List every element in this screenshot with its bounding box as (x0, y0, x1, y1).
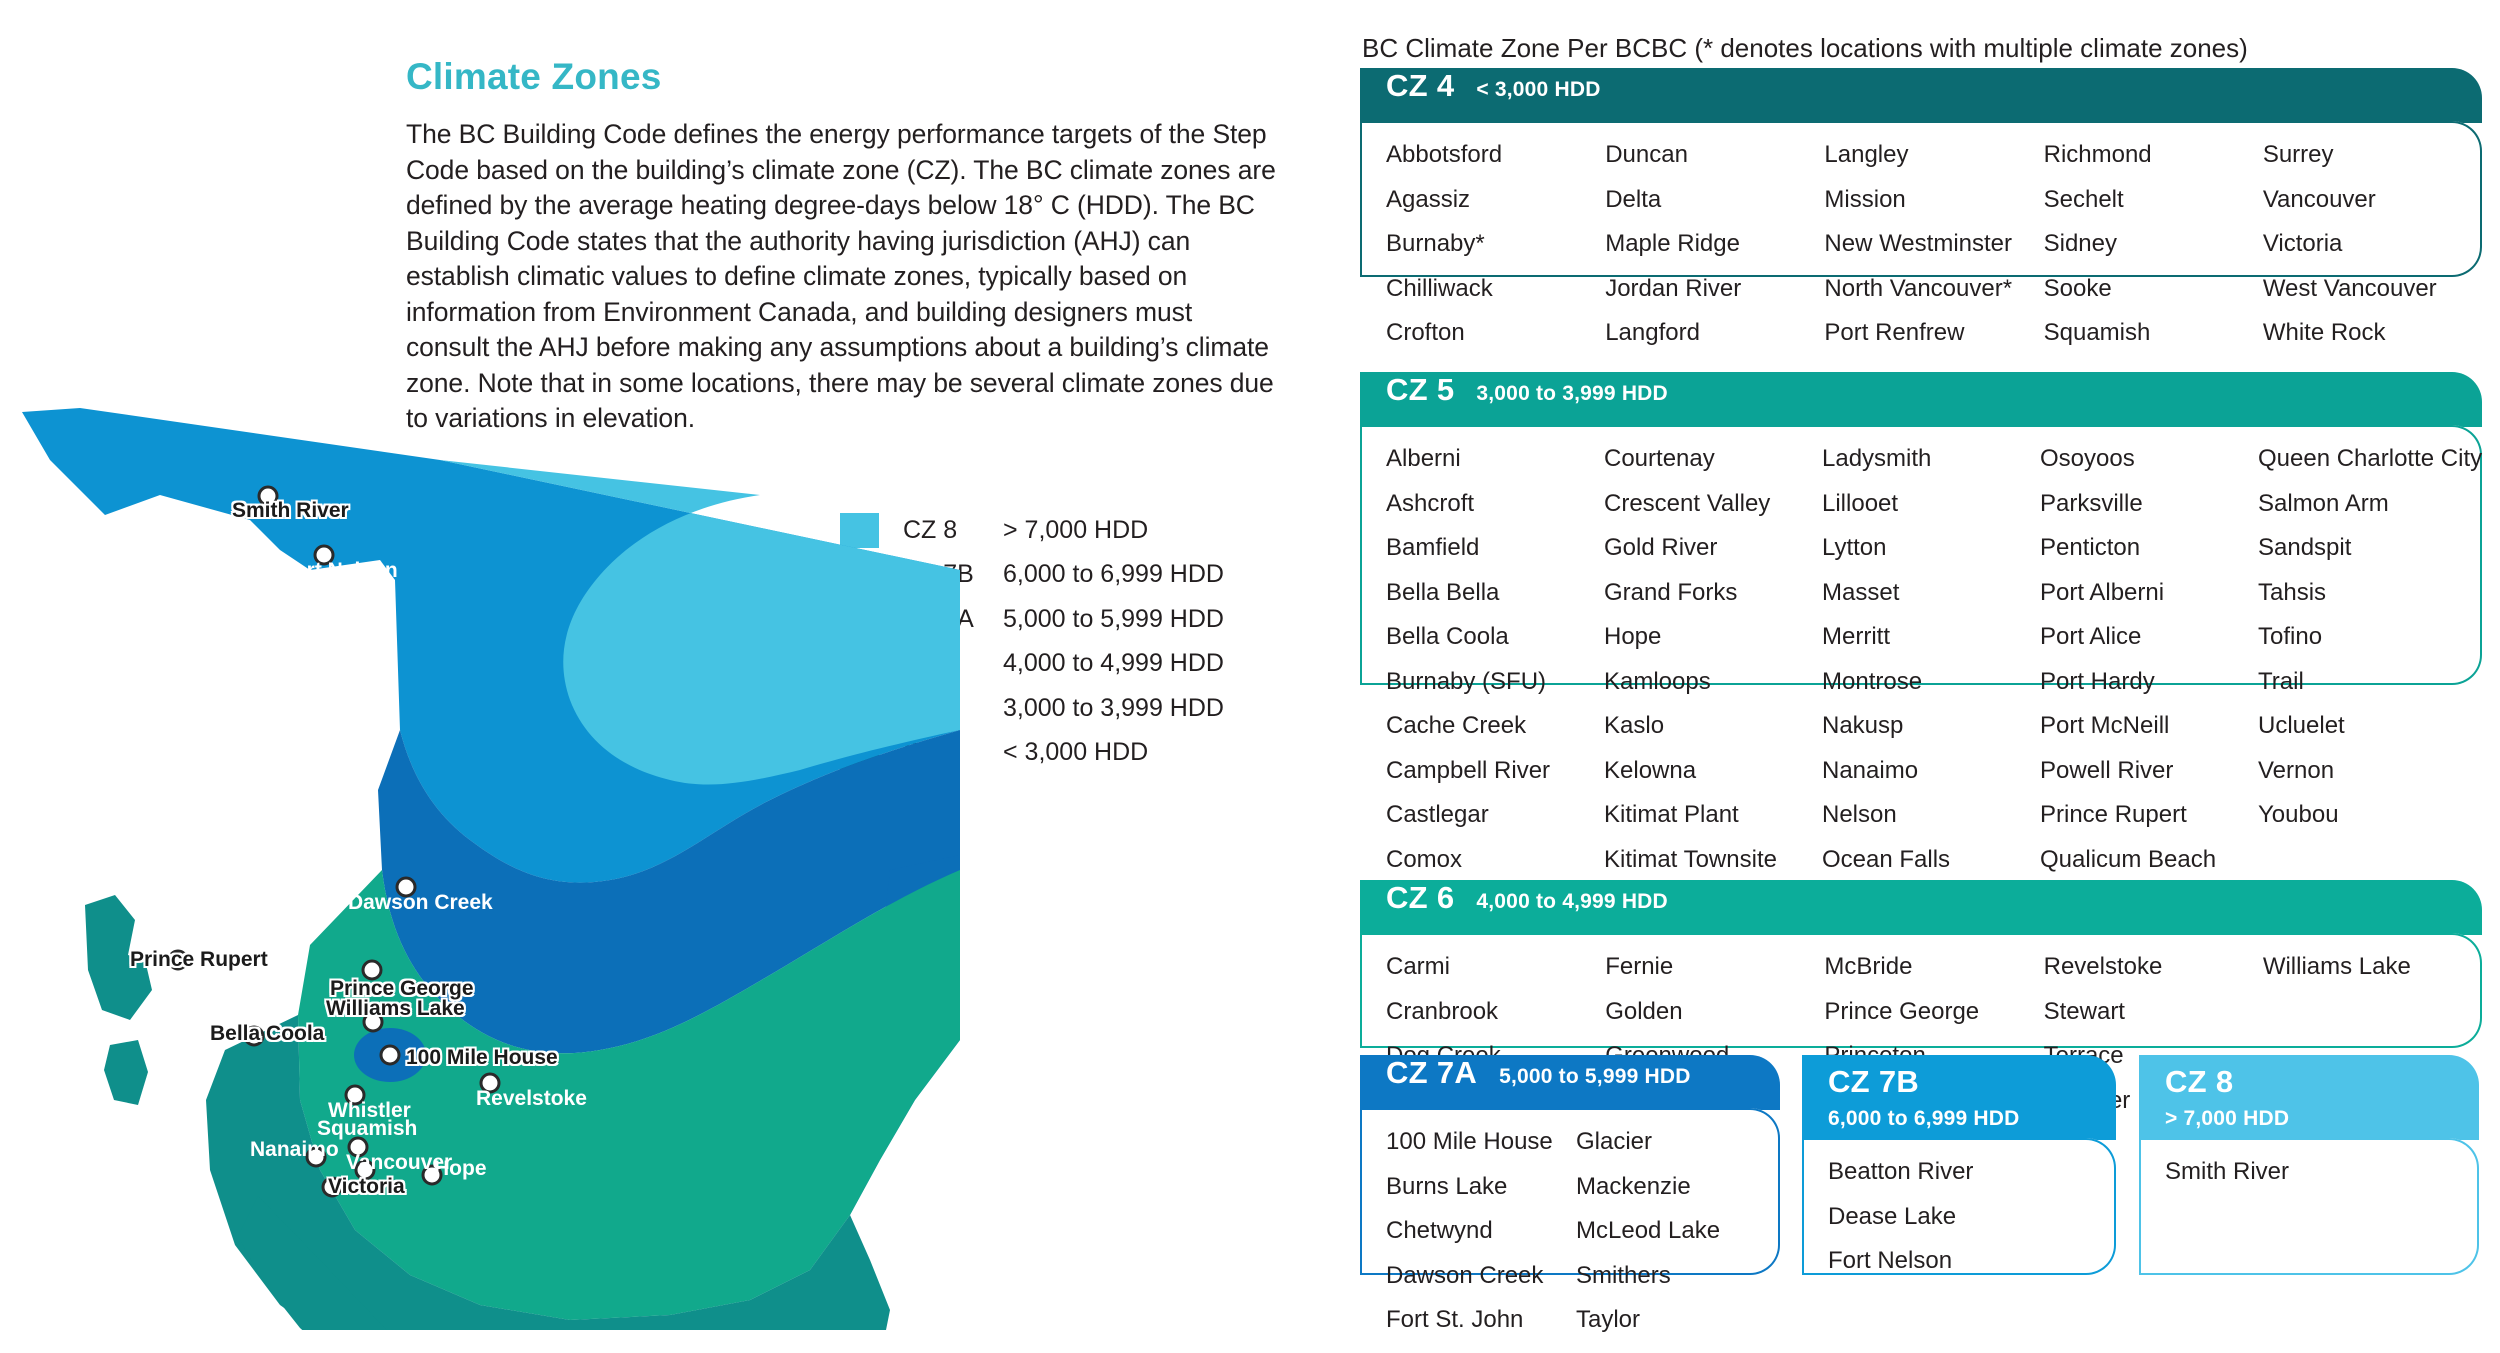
climate-zone-city: Burnaby (SFU) (1386, 670, 1604, 694)
legend-hdd-range: 6,000 to 6,999 HDD (1003, 560, 1224, 589)
climate-zone-city: Powell River (2040, 759, 2258, 783)
climate-zone-name: CZ 7B (1828, 1064, 1919, 1100)
climate-zone-city: Chetwynd (1386, 1219, 1576, 1243)
left-panel: Climate Zones The BC Building Code defin… (0, 0, 1340, 1342)
city-label-prince-rupert: Prince Rupert (130, 948, 198, 972)
city-label-hope: Hope (434, 1158, 487, 1180)
climate-zone-city: Bamfield (1386, 536, 1604, 560)
climate-zone-city: Alberni (1386, 447, 1604, 471)
climate-zone-city: Kitimat Townsite (1604, 848, 1822, 872)
climate-zone-city-column: GlacierMackenzieMcLeod LakeSmithersTaylo… (1576, 1130, 1766, 1353)
climate-zone-card-body: 100 Mile HouseBurns LakeChetwyndDawson C… (1360, 1108, 1780, 1275)
climate-zone-name: CZ 7A (1386, 1055, 1477, 1091)
climate-zone-card: CZ 53,000 to 3,999 HDDAlberniAshcroftBam… (1360, 372, 2482, 685)
climate-zone-city: Taylor (1576, 1308, 1766, 1332)
climate-zone-city: Smithers (1576, 1264, 1766, 1288)
climate-zone-name: CZ 6 (1386, 880, 1454, 916)
climate-zone-city: Beatton River (1828, 1160, 2088, 1184)
climate-zone-city-column: RichmondSecheltSidneySookeSquamish (2044, 143, 2263, 366)
climate-zones-infographic: Climate Zones The BC Building Code defin… (0, 0, 2500, 1342)
climate-zone-city-column: 100 Mile HouseBurns LakeChetwyndDawson C… (1386, 1130, 1576, 1353)
climate-zone-card-header: CZ 7A5,000 to 5,999 HDD (1360, 1055, 1780, 1110)
climate-zone-city: Sechelt (2044, 188, 2263, 212)
climate-zone-city: Prince Rupert (2040, 803, 2258, 827)
climate-zone-city: Fort Nelson (1828, 1249, 2088, 1273)
climate-zone-city: Carmi (1386, 955, 1605, 979)
climate-zone-city-column: LadysmithLillooetLyttonMassetMerrittMont… (1822, 447, 2040, 892)
climate-zone-card-body: AlberniAshcroftBamfieldBella BellaBella … (1360, 425, 2482, 685)
climate-zone-city: Castlegar (1386, 803, 1604, 827)
legend-hdd-range: < 3,000 HDD (1003, 738, 1148, 767)
climate-zone-city: Cache Creek (1386, 714, 1604, 738)
climate-zone-city: Nelson (1822, 803, 2040, 827)
climate-zone-city: Jordan River (1605, 277, 1824, 301)
climate-zone-city: Salmon Arm (2258, 492, 2482, 516)
haida-gwaii-south-shape (104, 1040, 148, 1105)
climate-zone-city: Langley (1824, 143, 2043, 167)
climate-zone-city: Mission (1824, 188, 2043, 212)
climate-zone-city: Kaslo (1604, 714, 1822, 738)
city-dot-100-mile-house (381, 1046, 399, 1064)
city-label-100-mile-house: 100 Mile House (406, 1047, 558, 1069)
climate-zone-name: CZ 5 (1386, 372, 1454, 408)
intro-paragraph: The BC Building Code defines the energy … (406, 117, 1276, 437)
climate-zone-city: Ucluelet (2258, 714, 2482, 738)
climate-zone-city: Vernon (2258, 759, 2482, 783)
city-label-revelstoke: Revelstoke (476, 1088, 587, 1110)
climate-zone-city: Squamish (2044, 321, 2263, 345)
climate-zone-card-body: AbbotsfordAgassizBurnaby*ChilliwackCroft… (1360, 121, 2482, 277)
climate-zone-city: Hope (1604, 625, 1822, 649)
city-label-bella-coola: Bella Coola (210, 1022, 254, 1046)
map-zone-shapes (22, 408, 960, 1330)
climate-zone-card-header: CZ 7B6,000 to 6,999 HDD (1802, 1055, 2116, 1140)
city-label-williams-lake: Williams Lake (326, 998, 465, 1020)
climate-zone-city: Gold River (1604, 536, 1822, 560)
climate-zone-card-body: Smith River (2139, 1138, 2479, 1275)
climate-zone-city-column: Queen Charlotte CitySalmon ArmSandspitTa… (2258, 447, 2482, 892)
climate-zone-city: Burns Lake (1386, 1175, 1576, 1199)
climate-zone-city: Victoria (2263, 232, 2482, 256)
legend-hdd-range: > 7,000 HDD (1003, 516, 1148, 545)
climate-zone-city: Sooke (2044, 277, 2263, 301)
climate-zone-city: Golden (1605, 1000, 1824, 1024)
climate-zone-city-column: OsoyoosParksvillePentictonPort AlberniPo… (2040, 447, 2258, 892)
climate-zone-city: Ocean Falls (1822, 848, 2040, 872)
climate-zone-city: North Vancouver* (1824, 277, 2043, 301)
climate-zone-city: 100 Mile House (1386, 1130, 1576, 1154)
climate-zone-city: Bella Coola (1386, 625, 1604, 649)
climate-zone-card: CZ 64,000 to 4,999 HDDCarmiCranbrookDog … (1360, 880, 2482, 1048)
climate-zone-card-header: CZ 8> 7,000 HDD (2139, 1055, 2479, 1140)
climate-zone-city: Langford (1605, 321, 1824, 345)
climate-zone-city: Tofino (2258, 625, 2482, 649)
climate-zone-city: Crofton (1386, 321, 1605, 345)
climate-zone-city: New Westminster (1824, 232, 2043, 256)
climate-zone-city: Williams Lake (2263, 955, 2482, 979)
climate-zone-city: Port Alberni (2040, 581, 2258, 605)
climate-zone-city: Trail (2258, 670, 2482, 694)
page-title: Climate Zones (406, 58, 1276, 95)
climate-zone-card-header: CZ 53,000 to 3,999 HDD (1360, 372, 2482, 427)
climate-zone-card-header: CZ 64,000 to 4,999 HDD (1360, 880, 2482, 935)
climate-zone-city: Vancouver (2263, 188, 2482, 212)
climate-zone-city: Fernie (1605, 955, 1824, 979)
intro-block: Climate Zones The BC Building Code defin… (406, 58, 1276, 437)
climate-zone-city-column: Smith River (2165, 1160, 2445, 1205)
climate-zone-city: Campbell River (1386, 759, 1604, 783)
city-label-victoria: Victoria (328, 1176, 405, 1198)
climate-zone-city-column: LangleyMissionNew WestminsterNorth Vanco… (1824, 143, 2043, 366)
climate-zone-city: Penticton (2040, 536, 2258, 560)
climate-zone-city: McBride (1824, 955, 2043, 979)
climate-zone-city: Mackenzie (1576, 1175, 1766, 1199)
climate-zone-city: McLeod Lake (1576, 1219, 1766, 1243)
climate-zone-name: CZ 8 (2165, 1064, 2233, 1100)
legend-hdd-range: 4,000 to 4,999 HDD (1003, 649, 1224, 678)
climate-zone-city: Montrose (1822, 670, 2040, 694)
climate-zone-card-body: CarmiCranbrookDog CreekElkoFernieGoldenG… (1360, 933, 2482, 1048)
climate-zone-hdd-range: 5,000 to 5,999 HDD (1499, 1065, 1691, 1089)
climate-zone-city: Grand Forks (1604, 581, 1822, 605)
climate-zone-city: Qualicum Beach (2040, 848, 2258, 872)
climate-zone-city: Cranbrook (1386, 1000, 1605, 1024)
city-label-fort-nelson: Fort Nelson (281, 560, 398, 582)
climate-zone-city-column: AlberniAshcroftBamfieldBella BellaBella … (1386, 447, 1604, 892)
climate-zone-city: Ashcroft (1386, 492, 1604, 516)
climate-zone-city: Delta (1605, 188, 1824, 212)
climate-zone-city-column: SurreyVancouverVictoriaWest VancouverWhi… (2263, 143, 2482, 366)
climate-zone-city-column: AbbotsfordAgassizBurnaby*ChilliwackCroft… (1386, 143, 1605, 366)
climate-zone-city: Masset (1822, 581, 2040, 605)
right-panel: BC Climate Zone Per BCBC (* denotes loca… (1340, 0, 2500, 1342)
climate-zone-city: Dease Lake (1828, 1205, 2088, 1229)
climate-zone-city: Parksville (2040, 492, 2258, 516)
map-svg (10, 400, 960, 1330)
climate-zone-city: Agassiz (1386, 188, 1605, 212)
climate-zone-city: Lytton (1822, 536, 2040, 560)
climate-zone-city: Nanaimo (1822, 759, 2040, 783)
climate-zone-city: Chilliwack (1386, 277, 1605, 301)
climate-zone-hdd-range: < 3,000 HDD (1476, 78, 1600, 102)
climate-zone-city: Port McNeill (2040, 714, 2258, 738)
climate-zone-hdd-range: > 7,000 HDD (2165, 1107, 2289, 1131)
climate-zone-city: Sidney (2044, 232, 2263, 256)
bc-climate-zone-map: Smith River Fort Nelson Dawson Creek Pri… (10, 400, 960, 1330)
climate-zone-city: White Rock (2263, 321, 2482, 345)
climate-zone-city: Comox (1386, 848, 1604, 872)
climate-zone-card: CZ 4< 3,000 HDDAbbotsfordAgassizBurnaby*… (1360, 68, 2482, 277)
climate-zone-city: Abbotsford (1386, 143, 1605, 167)
climate-zone-city: Ladysmith (1822, 447, 2040, 471)
climate-zone-city: Sandspit (2258, 536, 2482, 560)
climate-zone-card: CZ 8> 7,000 HDDSmith River (2139, 1055, 2479, 1275)
climate-zone-city: Merritt (1822, 625, 2040, 649)
climate-zone-city: Dawson Creek (1386, 1264, 1576, 1288)
climate-zone-card-header: CZ 4< 3,000 HDD (1360, 68, 2482, 123)
climate-zone-city: Burnaby* (1386, 232, 1605, 256)
climate-zone-city: Richmond (2044, 143, 2263, 167)
climate-zone-city: Port Renfrew (1824, 321, 2043, 345)
climate-zone-city: Tahsis (2258, 581, 2482, 605)
city-label-squamish: Squamish (317, 1118, 417, 1140)
climate-zone-city-column: Beatton RiverDease LakeFort Nelson (1828, 1160, 2088, 1294)
climate-zone-city: Kamloops (1604, 670, 1822, 694)
legend-hdd-range: 3,000 to 3,999 HDD (1003, 694, 1224, 723)
climate-zone-card-body: Beatton RiverDease LakeFort Nelson (1802, 1138, 2116, 1275)
climate-zone-hdd-range: 6,000 to 6,999 HDD (1828, 1107, 2020, 1131)
climate-zone-city: Osoyoos (2040, 447, 2258, 471)
climate-zone-card: CZ 7A5,000 to 5,999 HDD100 Mile HouseBur… (1360, 1055, 1780, 1275)
climate-zone-city: Duncan (1605, 143, 1824, 167)
climate-zone-city: Bella Bella (1386, 581, 1604, 605)
climate-zone-city: Lillooet (1822, 492, 2040, 516)
climate-zone-city: Prince George (1824, 1000, 2043, 1024)
climate-zone-hdd-range: 3,000 to 3,999 HDD (1476, 382, 1668, 406)
climate-zone-city: Maple Ridge (1605, 232, 1824, 256)
climate-zone-city: Port Hardy (2040, 670, 2258, 694)
climate-zone-table-caption: BC Climate Zone Per BCBC (* denotes loca… (1362, 33, 2248, 64)
climate-zone-city: Nakusp (1822, 714, 2040, 738)
climate-zone-city: Kelowna (1604, 759, 1822, 783)
climate-zone-hdd-range: 4,000 to 4,999 HDD (1476, 890, 1668, 914)
climate-zone-city: Kitimat Plant (1604, 803, 1822, 827)
climate-zone-card: CZ 7B6,000 to 6,999 HDDBeatton RiverDeas… (1802, 1055, 2116, 1275)
climate-zone-city: Stewart (2044, 1000, 2263, 1024)
climate-zone-name: CZ 4 (1386, 68, 1454, 104)
climate-zone-city: Revelstoke (2044, 955, 2263, 979)
climate-zone-city: Crescent Valley (1604, 492, 1822, 516)
city-label-nanaimo: Nanaimo (250, 1139, 339, 1161)
city-label-smith-river: Smith River (232, 500, 349, 522)
climate-zone-city: Fort St. John (1386, 1308, 1576, 1332)
city-label-dawson-creek: Dawson Creek (348, 892, 493, 914)
climate-zone-city: Glacier (1576, 1130, 1766, 1154)
climate-zone-city: Youbou (2258, 803, 2482, 827)
climate-zone-city: West Vancouver (2263, 277, 2482, 301)
climate-zone-city: Port Alice (2040, 625, 2258, 649)
climate-zone-city-column: CourtenayCrescent ValleyGold RiverGrand … (1604, 447, 1822, 892)
climate-zone-city: Courtenay (1604, 447, 1822, 471)
climate-zone-city: Surrey (2263, 143, 2482, 167)
climate-zone-city-column: DuncanDeltaMaple RidgeJordan RiverLangfo… (1605, 143, 1824, 366)
climate-zone-city: Queen Charlotte City (2258, 447, 2482, 471)
climate-zone-city: Smith River (2165, 1160, 2445, 1184)
legend-hdd-range: 5,000 to 5,999 HDD (1003, 605, 1224, 634)
